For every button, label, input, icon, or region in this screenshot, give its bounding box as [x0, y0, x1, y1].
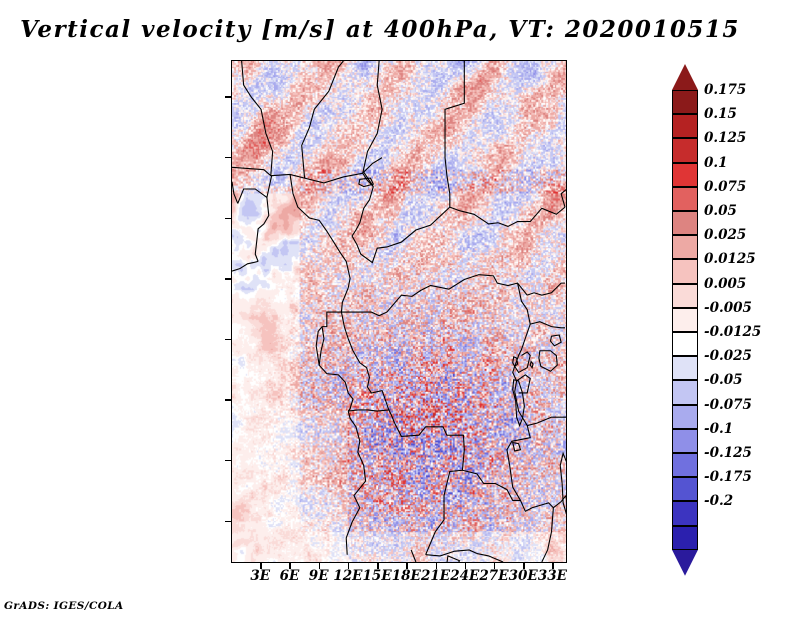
colorbar-segment — [672, 526, 698, 550]
border-line — [341, 275, 527, 316]
border-line — [527, 283, 565, 295]
border-line — [302, 61, 344, 178]
colorbar-tick-label: 0.0125 — [704, 251, 756, 267]
border-line — [395, 423, 465, 555]
map-plot-area — [231, 60, 567, 563]
colorbar-segment — [672, 235, 698, 259]
colorbar-segment — [672, 332, 698, 356]
lake-outline — [447, 556, 460, 562]
border-line — [561, 164, 566, 208]
colorbar-tick-label: 0.075 — [704, 179, 746, 195]
colorbar-tick-label: -0.0125 — [704, 324, 761, 340]
x-axis-tick — [377, 563, 379, 569]
colorbar-segment — [672, 284, 698, 308]
colorbar-segment — [672, 405, 698, 429]
colorbar-tick-label: -0.1 — [704, 421, 733, 437]
colorbar-tick-label: -0.075 — [704, 397, 752, 413]
border-line — [542, 550, 548, 562]
border-line — [232, 167, 373, 186]
colorbar-segment — [672, 187, 698, 211]
border-line — [363, 61, 382, 173]
page-title: Vertical velocity [m/s] at 400hPa, VT: 2… — [0, 16, 760, 43]
border-line — [517, 375, 531, 393]
colorbar-tick-label: 0.1 — [704, 155, 728, 171]
colorbar-segment — [672, 501, 698, 525]
colorbar-tick-label: -0.005 — [704, 300, 752, 316]
x-axis-tick — [552, 563, 554, 569]
y-axis-tick — [225, 96, 231, 98]
border-line — [232, 261, 258, 271]
colorbar-min-arrow — [672, 550, 698, 576]
x-axis-tick — [494, 563, 496, 569]
colorbar-tick-label: -0.2 — [704, 493, 733, 509]
colorbar-tick-label: 0.125 — [704, 130, 746, 146]
colorbar-tick-label: 0.025 — [704, 227, 746, 243]
x-axis-tick — [436, 563, 438, 569]
colorbar-tick-label: -0.025 — [704, 348, 752, 364]
colorbar-tick-label: 0.05 — [704, 203, 737, 219]
y-axis-tick — [225, 460, 231, 462]
country-borders-overlay — [232, 61, 566, 562]
border-line — [477, 554, 503, 562]
border-line — [426, 550, 477, 556]
colorbar-segment — [672, 308, 698, 332]
y-axis-tick — [225, 157, 231, 159]
x-axis-tick — [523, 563, 525, 569]
y-axis-tick — [225, 218, 231, 220]
colorbar-segment — [672, 477, 698, 501]
lake-outline — [513, 442, 521, 450]
x-axis-label: 33E — [532, 568, 572, 584]
border-line — [255, 197, 269, 261]
colorbar-tick-label: -0.05 — [704, 372, 742, 388]
x-axis-tick — [289, 563, 291, 569]
colorbar-max-arrow — [672, 64, 698, 90]
border-line — [507, 283, 530, 500]
colorbar-segment — [672, 453, 698, 477]
border-line — [242, 61, 273, 176]
border-line — [316, 327, 322, 366]
y-axis-tick — [225, 399, 231, 401]
x-axis-tick — [406, 563, 408, 569]
y-axis-tick — [225, 521, 231, 523]
border-line — [462, 470, 553, 550]
lake-outline — [550, 335, 561, 346]
border-line — [411, 550, 416, 562]
colorbar: 0.1750.150.1250.10.0750.050.0250.01250.0… — [668, 62, 798, 562]
border-line — [290, 174, 350, 326]
lake-outline — [530, 362, 533, 368]
lake-outline — [513, 380, 525, 426]
border-line — [232, 182, 238, 204]
border-line — [530, 322, 565, 328]
colorbar-segment — [672, 138, 698, 162]
x-axis-tick — [260, 563, 262, 569]
colorbar-segment — [672, 259, 698, 283]
x-axis-tick — [348, 563, 350, 569]
lake-outline — [539, 351, 557, 372]
y-axis-tick — [225, 339, 231, 341]
y-axis-tick — [225, 278, 231, 280]
colorbar-tick-label: -0.125 — [704, 445, 752, 461]
border-line — [346, 411, 365, 555]
border-line — [498, 207, 565, 226]
colorbar-tick-label: 0.15 — [704, 106, 737, 122]
border-line — [341, 312, 394, 423]
border-line — [352, 187, 498, 263]
colorbar-segment — [672, 163, 698, 187]
border-line — [527, 417, 566, 425]
x-axis-tick — [465, 563, 467, 569]
colorbar-segment — [672, 356, 698, 380]
colorbar-tick-label: -0.175 — [704, 469, 752, 485]
colorbar-segment — [672, 114, 698, 138]
colorbar-segment — [672, 380, 698, 404]
lake-outline — [560, 453, 566, 512]
border-line — [348, 410, 389, 411]
border-line — [445, 61, 464, 207]
colorbar-tick-label: 0.005 — [704, 276, 746, 292]
x-axis-tick — [319, 563, 321, 569]
colorbar-segment — [672, 90, 698, 114]
colorbar-segment — [672, 429, 698, 453]
colorbar-segment — [672, 211, 698, 235]
colorbar-tick-label: 0.175 — [704, 82, 746, 98]
footer-credit: GrADS: IGES/COLA — [4, 600, 124, 612]
